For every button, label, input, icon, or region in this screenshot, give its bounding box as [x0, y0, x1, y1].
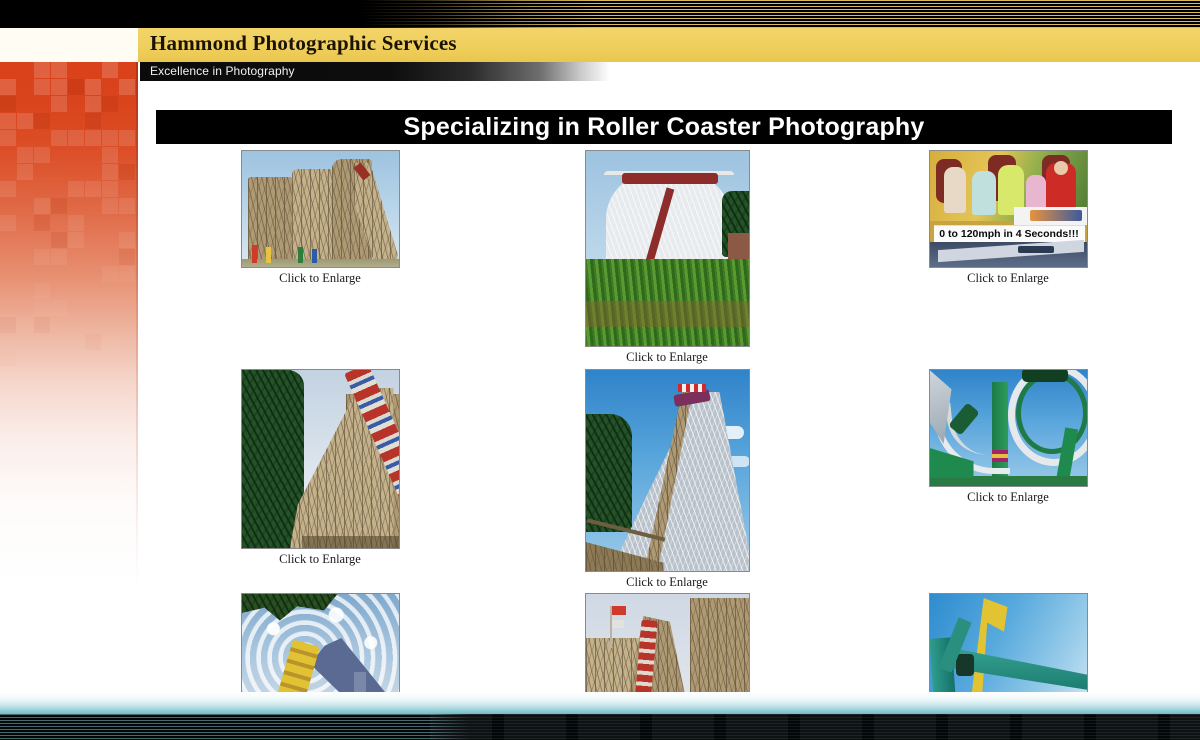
photo-3-rider-2 — [972, 171, 996, 215]
thumbnail-link-7[interactable] — [241, 593, 400, 692]
mosaic-tile — [0, 317, 16, 333]
mosaic-tile — [0, 113, 16, 129]
mosaic-tile — [34, 300, 50, 316]
footer-dark-band — [0, 714, 1200, 740]
mosaic-tile — [119, 232, 135, 248]
thumbnail-link-1[interactable] — [241, 150, 400, 268]
thumbnail-link-8[interactable] — [585, 593, 750, 692]
mosaic-tile — [85, 130, 101, 146]
mosaic-tile — [34, 79, 50, 95]
mosaic-tile — [34, 317, 50, 333]
mosaic-tile — [51, 79, 67, 95]
mosaic-tile — [102, 62, 118, 78]
mosaic-tile — [51, 62, 67, 78]
photo-1-flag-red — [252, 245, 257, 263]
mosaic-tile — [34, 198, 50, 214]
photo-3-rider-5-head — [1054, 161, 1068, 175]
mosaic-tile — [68, 181, 84, 197]
brand-bar: Hammond Photographic Services — [138, 28, 1200, 62]
mosaic-tile — [119, 249, 135, 265]
gallery-cell-6: Click to Enlarge — [928, 369, 1088, 504]
mosaic-tile — [85, 181, 101, 197]
mosaic-tile — [34, 113, 50, 129]
photo-gallery: Click to Enlarge Click to Enlarge — [140, 150, 1200, 692]
site-tagline: Excellence in Photography — [150, 64, 295, 78]
photo-1-flag-green — [298, 247, 303, 263]
photo-1-flag-blue — [312, 249, 317, 263]
mosaic-tile — [34, 147, 50, 163]
gallery-cell-3: 0 to 120mph in 4 Seconds!!! Click to Enl… — [928, 150, 1088, 285]
photo-3-banner-text: 0 to 120mph in 4 Seconds!!! — [936, 226, 1083, 242]
photo-2-building — [728, 233, 750, 261]
mosaic-tile — [85, 113, 101, 129]
tagline-bar: Excellence in Photography — [140, 62, 1200, 81]
mosaic-tile — [51, 232, 67, 248]
mosaic-tile — [68, 130, 84, 146]
sidebar-mosaic-pattern — [0, 62, 138, 402]
photo-3-park-logo — [1030, 210, 1082, 221]
mosaic-tile — [17, 113, 33, 129]
mosaic-tile — [34, 249, 50, 265]
thumbnail-caption-2: Click to Enlarge — [583, 350, 751, 364]
sidebar-decorative-panel — [0, 62, 138, 692]
mosaic-tile — [119, 266, 135, 282]
mosaic-tile — [102, 164, 118, 180]
mosaic-tile — [34, 283, 50, 299]
mosaic-tile — [17, 164, 33, 180]
brand-bar-left-notch — [0, 28, 138, 62]
mosaic-tile — [51, 198, 67, 214]
mosaic-tile — [102, 266, 118, 282]
mosaic-tile — [68, 215, 84, 231]
mosaic-tile — [102, 130, 118, 146]
mosaic-tile — [0, 130, 16, 146]
thumbnail-caption-5: Click to Enlarge — [583, 575, 751, 589]
footer-block-segments — [430, 714, 1200, 740]
mosaic-tile — [51, 249, 67, 265]
photo-3-train-label — [1018, 246, 1054, 253]
mosaic-tile — [34, 215, 50, 231]
page-title: Specializing in Roller Coaster Photograp… — [156, 110, 1172, 144]
mosaic-tile — [68, 79, 84, 95]
site-title: Hammond Photographic Services — [150, 31, 457, 56]
gallery-cell-5: Click to Enlarge — [583, 369, 751, 589]
gallery-cell-4: Click to Enlarge — [240, 369, 400, 566]
gallery-cell-9 — [928, 593, 1088, 692]
gallery-cell-1: Click to Enlarge — [240, 150, 400, 285]
mosaic-tile — [17, 147, 33, 163]
thumbnail-link-9[interactable] — [929, 593, 1088, 692]
page-root: Hammond Photographic Services Excellence… — [0, 0, 1200, 740]
mosaic-tile — [17, 317, 33, 333]
photo-4-ground-shadow — [302, 536, 400, 549]
mosaic-tile — [102, 96, 118, 112]
photo-3-rider-1 — [944, 167, 966, 213]
top-band-scanlines — [0, 0, 1200, 28]
mosaic-tile — [85, 334, 101, 350]
mosaic-tile — [119, 130, 135, 146]
gallery-cell-8 — [583, 593, 751, 692]
mosaic-tile — [0, 351, 16, 367]
thumbnail-link-5[interactable] — [585, 369, 750, 572]
mosaic-tile — [0, 79, 16, 95]
photo-5-crest-flags — [678, 384, 706, 392]
thumbnail-caption-1: Click to Enlarge — [240, 271, 400, 285]
photo-8-flag — [612, 606, 626, 615]
mosaic-tile — [85, 79, 101, 95]
mosaic-tile — [0, 215, 16, 231]
thumbnail-link-4[interactable] — [241, 369, 400, 549]
thumbnail-caption-4: Click to Enlarge — [240, 552, 400, 566]
main-content: Specializing in Roller Coaster Photograp… — [140, 81, 1200, 692]
mosaic-tile — [68, 232, 84, 248]
photo-6-train-inverted — [1022, 369, 1068, 382]
gallery-cell-2: Click to Enlarge — [583, 150, 751, 364]
mosaic-tile — [51, 130, 67, 146]
thumbnail-caption-6: Click to Enlarge — [928, 490, 1088, 504]
mosaic-tile — [102, 198, 118, 214]
photo-1-flag-yellow — [266, 247, 271, 263]
top-decorative-band — [0, 0, 1200, 28]
footer-gradient-band — [0, 692, 1200, 714]
mosaic-tile — [102, 147, 118, 163]
mosaic-tile — [119, 164, 135, 180]
mosaic-tile — [102, 181, 118, 197]
photo-6-loop-inner-track — [1016, 372, 1088, 454]
mosaic-tile — [0, 181, 16, 197]
tagline-bar-background — [140, 62, 1200, 81]
thumbnail-caption-3: Click to Enlarge — [928, 271, 1088, 285]
mosaic-tile — [119, 198, 135, 214]
thumbnail-link-3[interactable]: 0 to 120mph in 4 Seconds!!! — [929, 150, 1088, 268]
gallery-cell-7 — [240, 593, 400, 692]
photo-8-structure-right — [690, 598, 750, 692]
mosaic-tile — [119, 79, 135, 95]
photo-5-tree-left — [586, 414, 632, 532]
photo-8-flag-2 — [612, 620, 624, 628]
sidebar-right-edge — [136, 62, 138, 637]
mosaic-tile — [51, 300, 67, 316]
thumbnail-link-2[interactable] — [585, 150, 750, 347]
photo-7-support-column — [354, 672, 366, 692]
thumbnail-link-6[interactable] — [929, 369, 1088, 487]
photo-9-train — [956, 654, 974, 676]
mosaic-tile — [85, 96, 101, 112]
mosaic-tile — [34, 62, 50, 78]
photo-4-pine-tree — [242, 370, 304, 549]
mosaic-tile — [51, 96, 67, 112]
mosaic-tile — [0, 96, 16, 112]
mosaic-tile — [102, 334, 118, 350]
photo-2-soil — [586, 301, 750, 327]
photo-2-train — [622, 173, 718, 184]
